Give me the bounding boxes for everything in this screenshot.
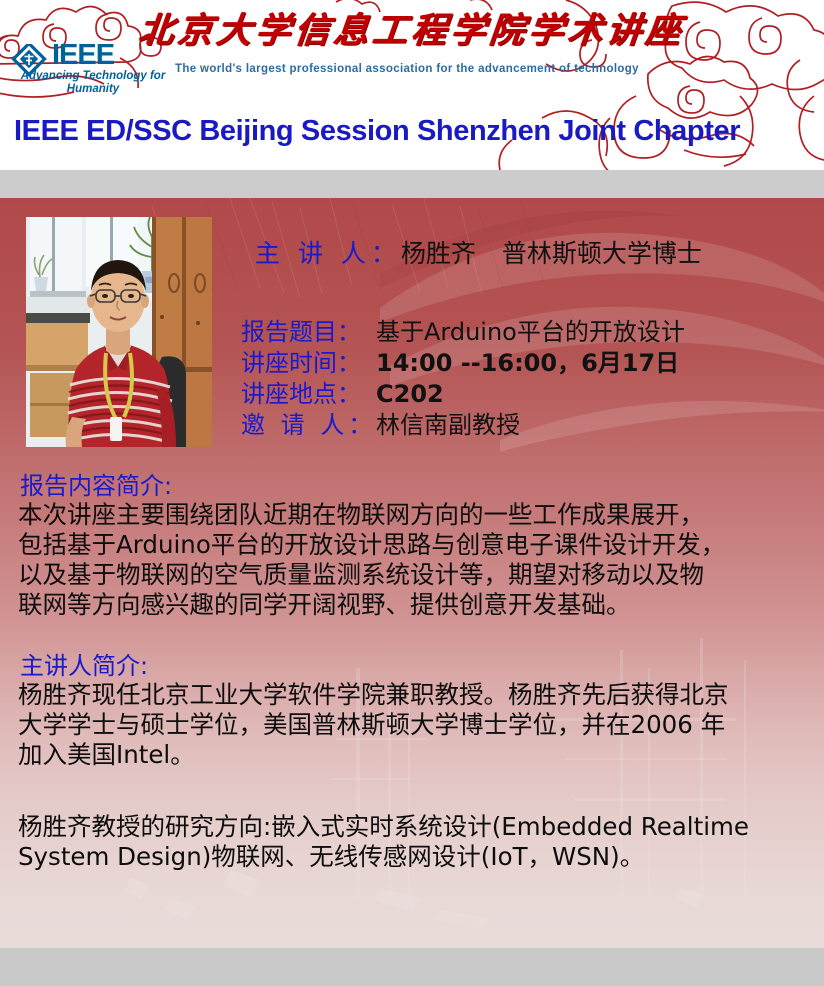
speaker-label: 主 讲 人： — [255, 239, 401, 268]
speaker-affiliation: 普林斯顿大学博士 — [476, 239, 702, 268]
bio-line: 加入美国Intel。 — [18, 740, 729, 770]
detail-row-venue: 讲座地点： C202 — [241, 374, 685, 405]
talk-details: 报告题目： 基于Arduino平台的开放设计 讲座时间： 14:00 --16:… — [241, 312, 685, 436]
abstract-line: 本次讲座主要围绕团队近期在物联网方向的一些工作成果展开， — [18, 500, 725, 530]
ieee-slogan: The world's largest professional associa… — [175, 63, 639, 75]
abstract-line: 包括基于Arduino平台的开放设计思路与创意电子课件设计开发， — [18, 530, 725, 560]
detail-label-venue: 讲座地点： — [241, 374, 376, 409]
chapter-title: IEEE ED/SSC Beijing Session Shenzhen Joi… — [14, 115, 740, 148]
detail-value-host: 林信南副教授 — [376, 405, 520, 440]
detail-row-topic: 报告题目： 基于Arduino平台的开放设计 — [241, 312, 685, 343]
bio-line: 大学学士与硕士学位，美国普林斯顿大学博士学位，并在2006 年 — [18, 710, 729, 740]
footer-band — [0, 948, 824, 986]
abstract-line: 以及基于物联网的空气质量监测系统设计等，期望对移动以及物 — [18, 560, 725, 590]
speaker-photo-frame — [21, 212, 217, 452]
detail-label-time: 讲座时间： — [241, 343, 376, 378]
detail-value-venue: C202 — [376, 380, 444, 408]
abstract-line: 联网等方向感兴趣的同学开阔视野、提供创意开发基础。 — [18, 590, 725, 620]
research-line: System Design)物联网、无线传感网设计(IoT，WSN)。 — [18, 842, 749, 872]
speaker-photo — [26, 217, 212, 447]
detail-row-time: 讲座时间： 14:00 --16:00，6月17日 — [241, 343, 685, 374]
poster-root: 北京大学信息工程学院学术讲座 IEEE Advancing Technology… — [0, 0, 824, 986]
abstract-body: 本次讲座主要围绕团队近期在物联网方向的一些工作成果展开， 包括基于Arduino… — [18, 500, 725, 620]
research-body: 杨胜齐教授的研究方向:嵌入式实时系统设计(Embedded Realtime S… — [18, 812, 749, 872]
abstract-heading: 报告内容简介: — [20, 466, 172, 501]
poster-header: 北京大学信息工程学院学术讲座 IEEE Advancing Technology… — [0, 0, 824, 170]
bio-line: 杨胜齐现任北京工业大学软件学院兼职教授。杨胜齐先后获得北京 — [18, 680, 729, 710]
detail-label-topic: 报告题目： — [241, 312, 376, 347]
ieee-logo: IEEE Advancing Technology for Humanity — [8, 44, 168, 92]
ieee-wordmark: IEEE — [52, 41, 114, 70]
detail-label-host: 邀 请 人： — [241, 405, 376, 440]
bio-body: 杨胜齐现任北京工业大学软件学院兼职教授。杨胜齐先后获得北京 大学学士与硕士学位，… — [18, 680, 729, 770]
speaker-line: 主 讲 人：杨胜齐普林斯顿大学博士 — [255, 234, 702, 270]
speaker-name: 杨胜齐 — [401, 239, 476, 268]
detail-value-topic: 基于Arduino平台的开放设计 — [376, 312, 685, 347]
ieee-tagline: Advancing Technology for Humanity — [18, 70, 168, 96]
detail-row-host: 邀 请 人： 林信南副教授 — [241, 405, 685, 436]
speaker-portrait-illustration — [26, 217, 212, 447]
header-divider-band — [0, 170, 824, 198]
detail-value-time: 14:00 --16:00，6月17日 — [376, 343, 679, 378]
research-line: 杨胜齐教授的研究方向:嵌入式实时系统设计(Embedded Realtime — [18, 812, 749, 842]
bio-heading: 主讲人简介: — [20, 646, 148, 681]
